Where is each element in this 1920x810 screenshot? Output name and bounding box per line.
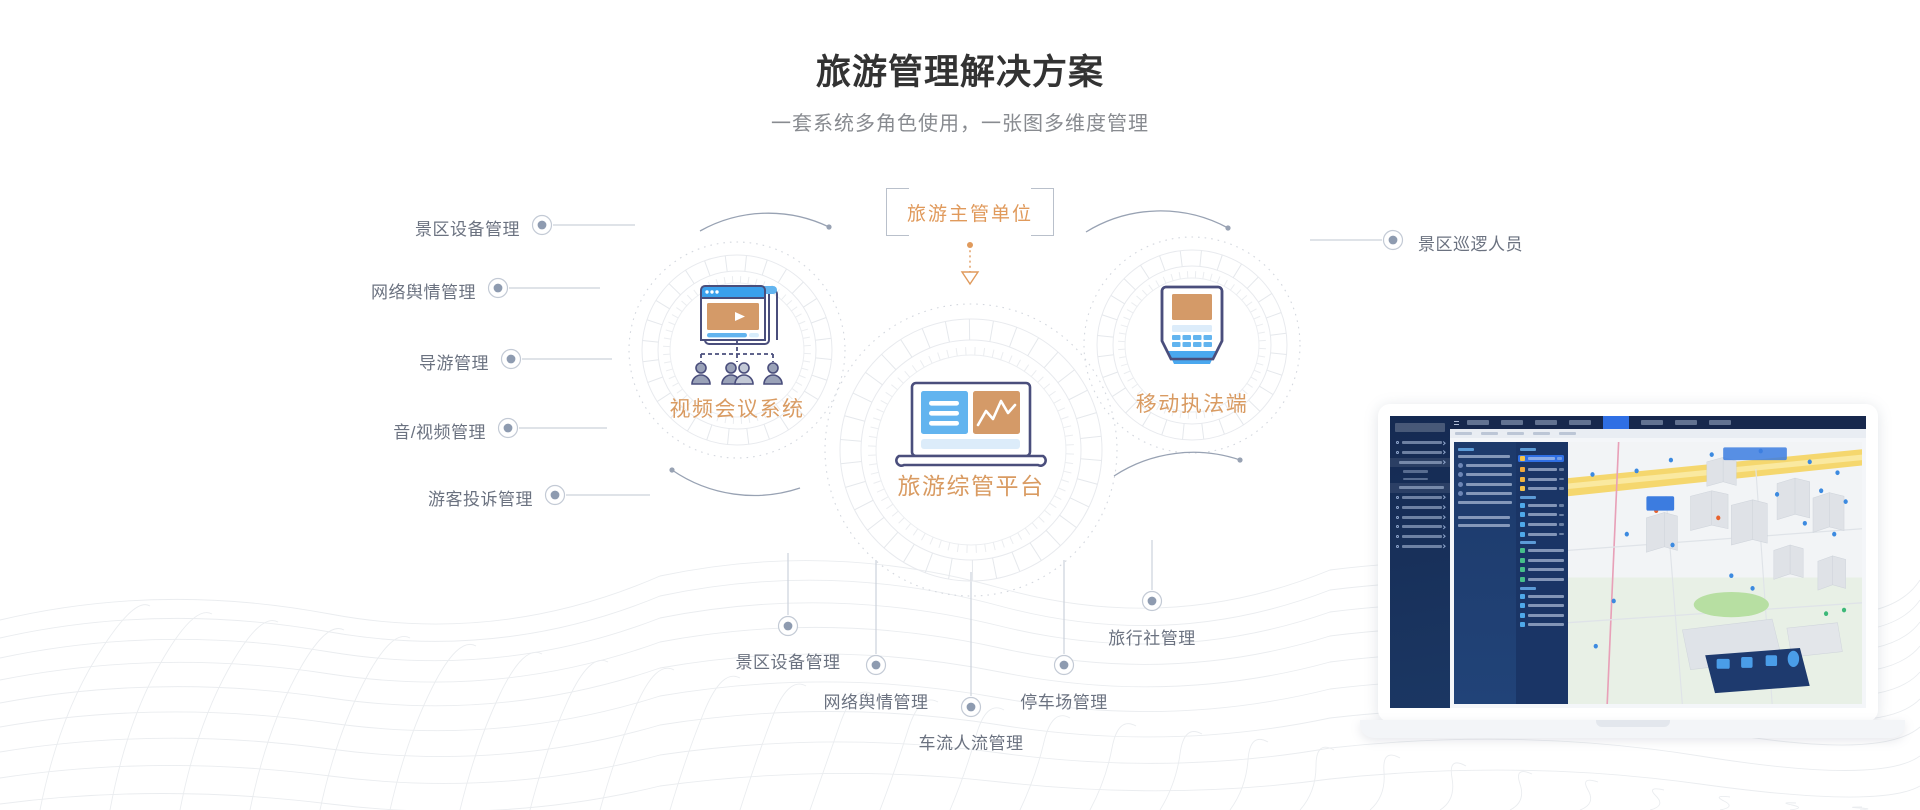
topnav-tab-2[interactable] [1535,420,1557,425]
chevron-right-icon [1441,525,1445,529]
region-tree-header [1458,448,1474,451]
solution-diagram-page: 旅游管理解决方案 一套系统多角色使用，一张图多维度管理 [0,0,1920,810]
layer-item-10[interactable] [1520,567,1564,572]
layer-item-8[interactable] [1520,548,1564,553]
sidebar-subitem-0[interactable] [1390,467,1450,475]
sidebar-icon-9 [1396,545,1399,548]
wifi-icon [1520,613,1525,618]
layer-item-11[interactable] [1520,577,1564,582]
left-connectors [509,225,650,495]
chevron-right-icon [1441,506,1445,510]
callbox-icon [1520,622,1525,627]
tree-node-5[interactable] [1458,501,1512,504]
topnav-tab-7[interactable] [1709,420,1731,425]
topnav-tab-active[interactable] [1603,416,1629,429]
tree-node-0[interactable] [1458,455,1512,458]
tree-node-3[interactable] [1458,482,1512,487]
topnav-tab-5[interactable] [1641,420,1663,425]
sidebar-item-9[interactable] [1390,542,1450,552]
region-tree-panel [1454,442,1516,704]
sidebar-icon-5 [1396,506,1399,509]
node-caption-tourism-platform: 旅游综管平台 [881,467,1061,501]
laptop-dashboard-icon [896,383,1045,466]
dashboard-sidebar [1390,416,1450,708]
topnav-tab-0[interactable] [1467,420,1489,425]
sidebar-icon-8 [1396,535,1399,538]
sidebar-item-5[interactable] [1390,502,1450,512]
trashbin-icon [1520,577,1525,582]
topnav-tab-1[interactable] [1501,420,1523,425]
tree-node-1[interactable] [1458,463,1512,468]
tree-node-6[interactable] [1458,516,1512,519]
sidebar-subitem-1[interactable] [1390,475,1450,483]
chevron-right-icon [1441,441,1445,445]
hotel-icon [1520,503,1525,508]
open-tab-0[interactable] [1455,432,1472,435]
bottom-label-2: 车流人流管理 [911,729,1031,754]
left-label-3: 音/视频管理 [216,418,486,443]
service-icon [1520,522,1525,527]
layer-item-5[interactable] [1520,512,1564,517]
left-label-1: 网络舆情管理 [206,278,476,303]
handheld-terminal-icon [1162,287,1222,364]
caution-icon [1520,477,1525,482]
toilet-icon [1520,548,1525,553]
chevron-right-icon [1441,496,1445,500]
left-label-4: 游客投诉管理 [263,485,533,510]
sidebar-icon-6 [1396,516,1399,519]
layer-item-4[interactable] [1520,503,1564,508]
sidebar-item-8[interactable] [1390,532,1450,542]
layer-item-3[interactable] [1520,486,1564,491]
chevron-right-icon [1441,545,1445,549]
layer-group-header-1 [1520,496,1536,499]
sidebar-item-0[interactable] [1390,438,1450,448]
sidebar-item-3[interactable] [1390,483,1450,493]
tree-node-2[interactable] [1458,472,1512,477]
layer-item-7[interactable] [1520,532,1564,537]
shop-icon [1520,532,1525,537]
sidebar-icon-1 [1396,451,1399,454]
node-caption-video-conference: 视频会议系统 [657,393,817,423]
dashboard-main [1450,416,1866,708]
restaurant-icon [1520,512,1525,517]
layer-item-12[interactable] [1520,594,1564,599]
sidebar-icon-0 [1396,441,1399,444]
sidebar-icon-7 [1396,525,1399,528]
dashboard-topbar [1450,416,1866,429]
topnav-tab-3[interactable] [1569,420,1591,425]
sidebar-item-2[interactable] [1390,458,1450,468]
sidebar-item-6[interactable] [1390,512,1450,522]
right-markers [1384,231,1403,250]
sidebar-item-4[interactable] [1390,493,1450,503]
layer-item-9[interactable] [1520,558,1564,563]
bottom-label-1: 网络舆情管理 [816,688,936,713]
open-tab-3[interactable] [1533,432,1550,435]
tree-node-4[interactable] [1458,491,1512,496]
chevron-down-icon [1441,451,1445,455]
map-canvas[interactable] [1568,442,1862,704]
dashboard-tabstrip [1450,429,1866,438]
laptop-mockup [1360,404,1905,772]
laptop-screen [1378,404,1878,722]
sidebar-item-1[interactable] [1390,448,1450,458]
open-tab-1[interactable] [1481,432,1498,435]
layer-item-0[interactable] [1518,455,1564,462]
chevron-right-icon [1441,535,1445,539]
bottom-label-4: 旅行社管理 [1092,624,1212,649]
layer-item-6[interactable] [1520,522,1564,527]
layer-item-13[interactable] [1520,603,1564,608]
authority-label: 旅游主管单位 [907,199,1033,226]
layer-item-15[interactable] [1520,622,1564,627]
layer-group-header-3 [1520,587,1536,590]
left-label-0: 景区设备管理 [250,215,520,240]
chevron-right-icon [1441,515,1445,519]
left-markers [489,216,565,505]
authority-box: 旅游主管单位 [886,189,1054,235]
layer-item-1[interactable] [1520,467,1564,472]
parking-icon [1520,558,1525,563]
open-tab-4[interactable] [1559,432,1576,435]
chevron-down-icon [1441,461,1445,465]
laptop-screen-content [1390,416,1866,708]
menu-icon[interactable] [1454,421,1459,425]
node-caption-mobile-enforcement: 移动执法端 [1122,388,1262,418]
authority-arrow [962,242,978,284]
layer-group-header-0 [1520,448,1536,451]
bottom-label-3: 停车场管理 [1004,688,1124,713]
network-icon [1520,486,1525,491]
sidebar-icon-4 [1396,496,1399,499]
broadcast-icon [1520,603,1525,608]
bottom-label-0: 景区设备管理 [728,648,848,673]
layer-item-14[interactable] [1520,613,1564,618]
topnav-tab-6[interactable] [1675,420,1697,425]
camera-icon [1520,594,1525,599]
layer-item-2[interactable] [1520,477,1564,482]
streetlight-icon [1520,567,1525,572]
alert-icon [1520,467,1525,472]
tree-node-7[interactable] [1458,524,1512,527]
dashboard-logo [1395,423,1445,432]
layer-group-header-2 [1520,541,1536,544]
laptop-notch [1596,720,1670,727]
warning-icon [1520,456,1525,461]
map-dashboard [1390,416,1866,708]
dashboard-body [1450,438,1866,708]
video-window-icon [692,286,782,384]
layer-list-panel [1516,442,1568,704]
left-label-2: 导游管理 [219,349,489,374]
sidebar-item-7[interactable] [1390,522,1450,532]
right-label-0: 景区巡逻人员 [1418,230,1523,255]
open-tab-2[interactable] [1507,432,1524,435]
